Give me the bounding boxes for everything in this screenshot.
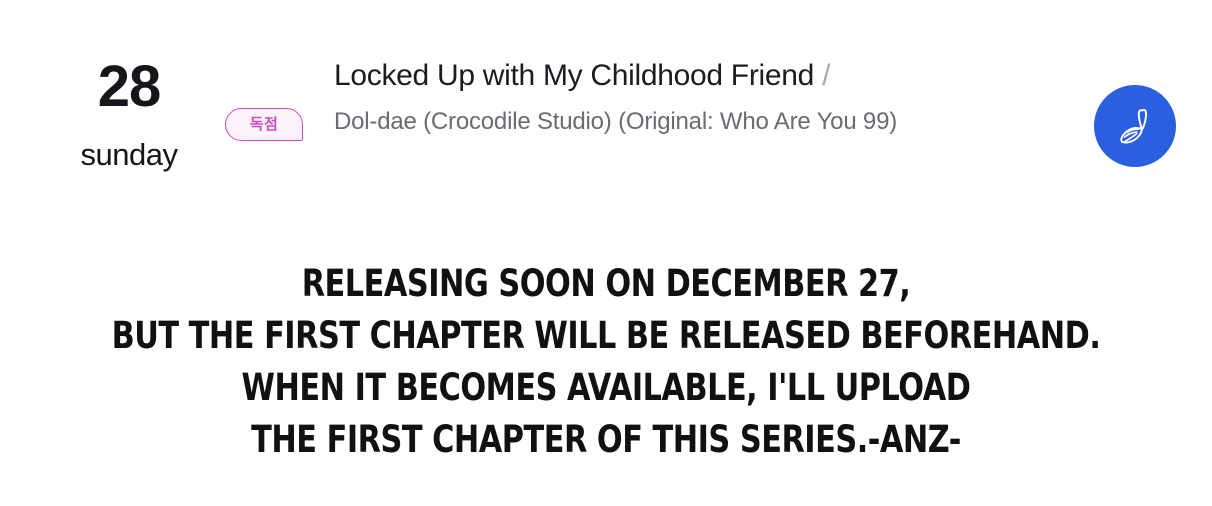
release-date: 28 sunday [62, 58, 196, 170]
brand-logo[interactable] [1094, 85, 1176, 167]
message-line: THE FIRST CHAPTER OF THIS SERIES.-ANZ- [109, 414, 1103, 466]
exclusive-badge: 독점 [225, 108, 303, 141]
message-line: BUT THE FIRST CHAPTER WILL BE RELEASED B… [109, 310, 1103, 362]
exclusive-badge-wrapper: 독점 [225, 108, 303, 141]
release-notice-page: 28 sunday 독점 Locked Up with My Childhood… [0, 0, 1212, 506]
series-title-separator: / [822, 59, 830, 92]
message-line: WHEN IT BECOMES AVAILABLE, I'LL UPLOAD [109, 362, 1103, 414]
exclusive-badge-label: 독점 [250, 117, 279, 132]
series-text-column: Locked Up with My Childhood Friend / Dol… [334, 56, 959, 141]
banana-icon [1109, 100, 1161, 152]
author-message: RELEASING SOON ON DECEMBER 27, BUT THE F… [0, 258, 1212, 466]
series-entry-row[interactable]: 28 sunday 독점 Locked Up with My Childhood… [0, 0, 1212, 230]
series-title-text: Locked Up with My Childhood Friend [334, 59, 814, 92]
date-weekday-label: sunday [62, 139, 196, 170]
message-line: RELEASING SOON ON DECEMBER 27, [109, 258, 1103, 310]
series-title[interactable]: Locked Up with My Childhood Friend / [334, 56, 959, 96]
series-subtitle: Dol-dae (Crocodile Studio) (Original: Wh… [334, 103, 959, 142]
date-day-number: 28 [62, 58, 196, 116]
